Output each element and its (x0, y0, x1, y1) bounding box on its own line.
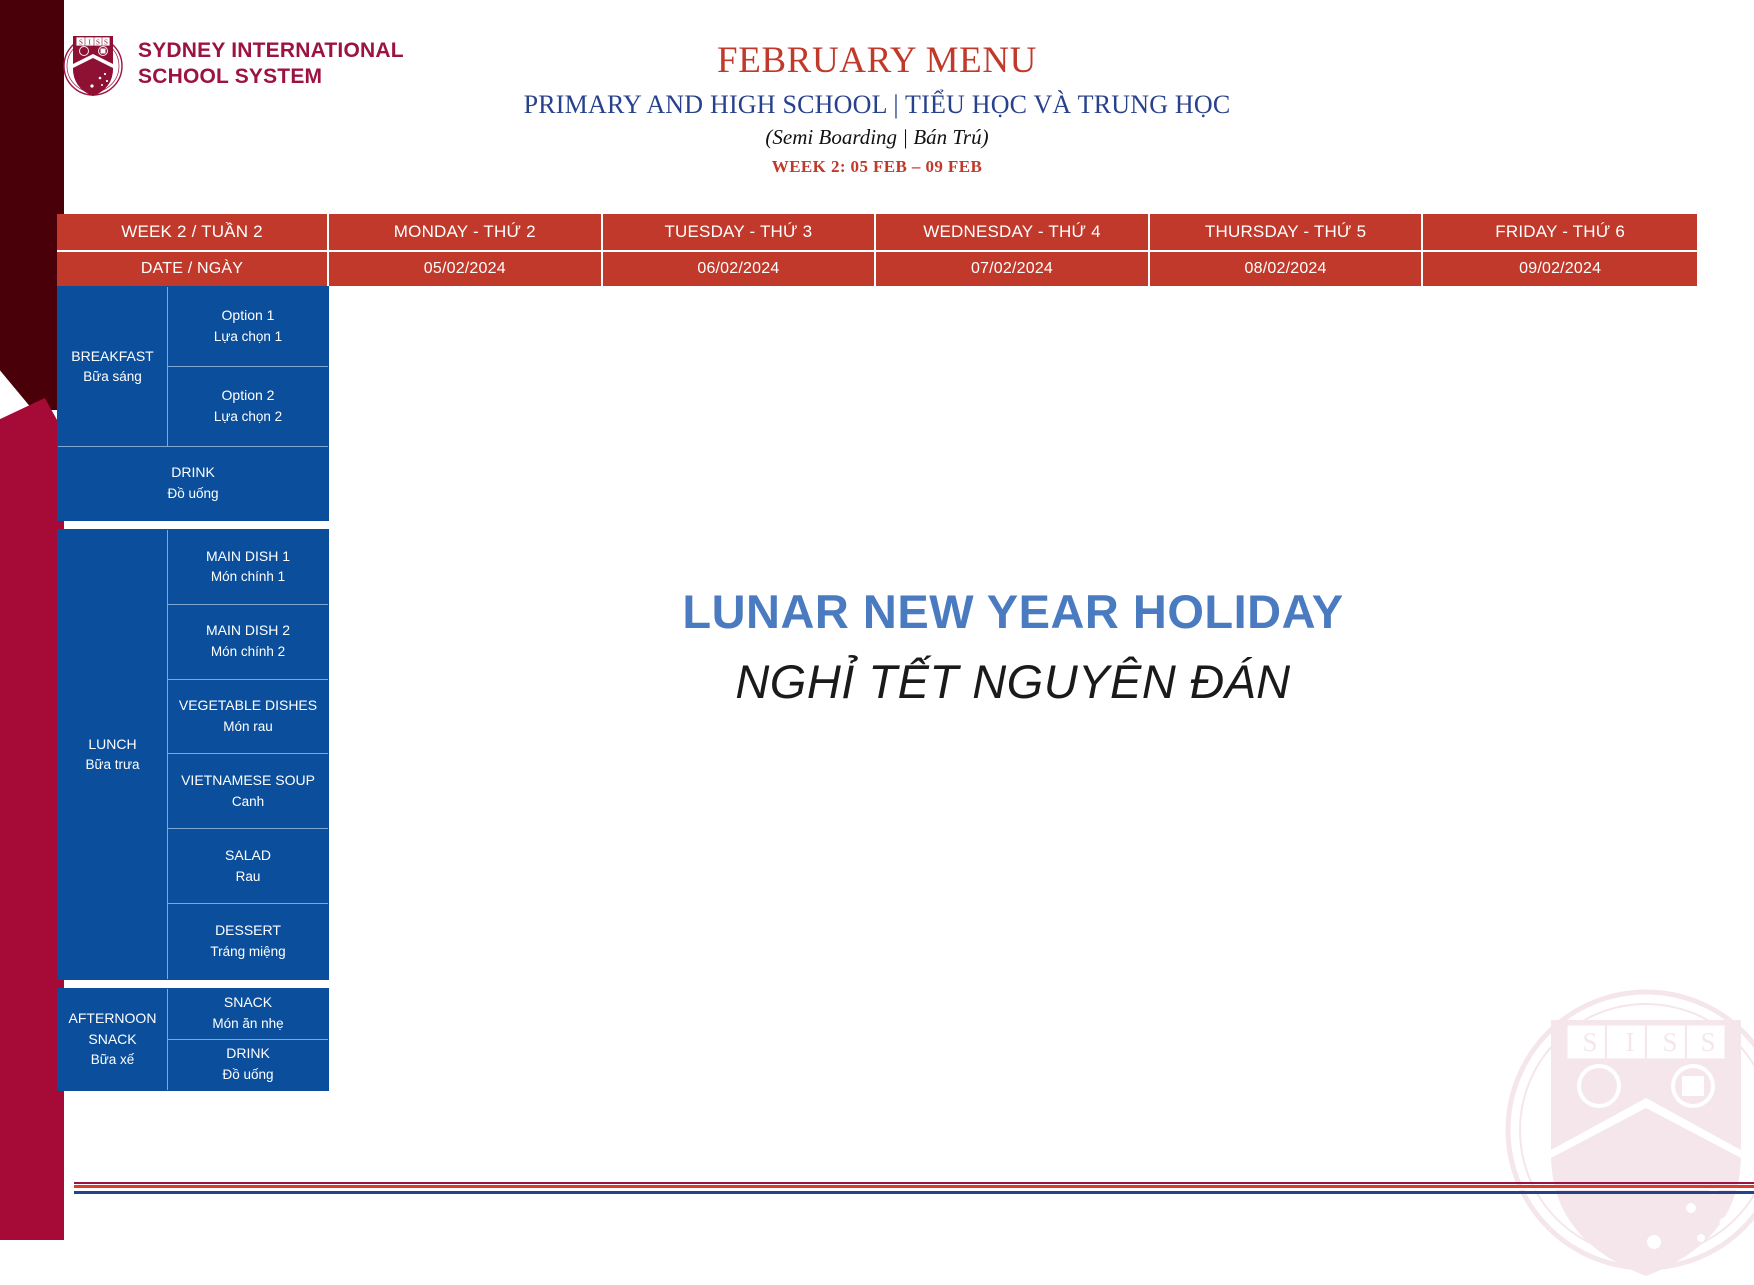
meal-item-vn: Rau (236, 867, 261, 888)
meal-name-breakfast: BREAKFAST Bữa sáng (58, 287, 168, 446)
meal-name-snack-en-1: AFTERNOON (69, 1008, 157, 1029)
meal-item-vn: Tráng miệng (210, 942, 285, 963)
meal-item-snack-drink: DRINK Đồ uống (168, 1040, 328, 1091)
header-day-friday: FRIDAY - THỨ 6 (1423, 214, 1697, 250)
table-header-row-dates: DATE / NGÀY 05/02/2024 06/02/2024 07/02/… (57, 250, 1697, 286)
meal-name-snack-vn: Bữa xế (91, 1050, 135, 1070)
meal-item-en: VIETNAMESE SOUP (181, 770, 315, 792)
meal-item-en: Option 2 (222, 385, 275, 407)
title-block: FEBRUARY MENU PRIMARY AND HIGH SCHOOL | … (340, 40, 1414, 176)
meal-items-afternoon-snack: SNACK Món ăn nhẹ DRINK Đồ uống (168, 989, 328, 1090)
header-date-thursday: 08/02/2024 (1150, 250, 1424, 286)
footer-divider (74, 1182, 1754, 1194)
footer-rule-blue (74, 1191, 1754, 1194)
meal-item-vn: Đồ uống (167, 484, 218, 505)
svg-text:S: S (79, 39, 83, 47)
header-day-monday: MONDAY - THỨ 2 (329, 214, 603, 250)
svg-text:S: S (1700, 1027, 1715, 1057)
table-body: BREAKFAST Bữa sáng Option 1 Lựa chọn 1 O… (57, 286, 1697, 1126)
svg-text:S: S (104, 39, 108, 47)
meal-name-lunch: LUNCH Bữa trưa (58, 530, 168, 979)
table-header-row-days: WEEK 2 / TUẦN 2 MONDAY - THỨ 2 TUESDAY -… (57, 214, 1697, 250)
holiday-notice: LUNAR NEW YEAR HOLIDAY NGHỈ TẾT NGUYÊN Đ… (329, 286, 1697, 1126)
meal-items-breakfast: Option 1 Lựa chọn 1 Option 2 Lựa chọn 2 (168, 287, 328, 446)
meal-name-snack-en-2: SNACK (88, 1029, 136, 1050)
meal-item-snack: SNACK Món ăn nhẹ (168, 989, 328, 1040)
meal-name-breakfast-vn: Bữa sáng (83, 367, 142, 387)
svg-text:S: S (96, 39, 100, 47)
header-date-monday: 05/02/2024 (329, 250, 603, 286)
left-edge-crimson-shape (0, 398, 64, 1240)
meal-item-en: MAIN DISH 2 (206, 620, 290, 642)
meal-name-afternoon-snack: AFTERNOON SNACK Bữa xế (58, 989, 168, 1090)
page-subtitle: PRIMARY AND HIGH SCHOOL | TIỂU HỌC VÀ TR… (340, 90, 1414, 120)
meal-item-vn: Món chính 1 (211, 567, 285, 588)
meal-item-lunch-vegetable-dishes: VEGETABLE DISHES Món rau (168, 680, 328, 755)
meal-item-vn: Lựa chọn 1 (214, 327, 282, 348)
header-week-label: WEEK 2 / TUẦN 2 (57, 214, 329, 250)
meal-item-vn: Canh (232, 792, 264, 813)
meal-name-breakfast-en: BREAKFAST (71, 346, 153, 367)
meal-item-en: DRINK (226, 1043, 270, 1065)
meal-item-en: SNACK (224, 992, 272, 1014)
footer-rule-maroon (74, 1182, 1754, 1184)
holiday-notice-vn: NGHỈ TẾT NGUYÊN ĐÁN (735, 656, 1290, 708)
meal-block-lunch: LUNCH Bữa trưa MAIN DISH 1 Món chính 1 M… (57, 529, 329, 980)
boarding-type: (Semi Boarding | Bán Trú) (340, 125, 1414, 149)
meal-item-breakfast-option-1: Option 1 Lựa chọn 1 (168, 287, 328, 367)
meal-item-en: DRINK (171, 462, 215, 484)
holiday-notice-en: LUNAR NEW YEAR HOLIDAY (682, 586, 1343, 638)
meal-name-lunch-en: LUNCH (88, 734, 136, 755)
header-day-tuesday: TUESDAY - THỨ 3 (603, 214, 877, 250)
meal-item-en: SALAD (225, 845, 271, 867)
meal-item-breakfast-option-2: Option 2 Lựa chọn 2 (168, 367, 328, 447)
header-date-wednesday: 07/02/2024 (876, 250, 1150, 286)
meal-block-breakfast: BREAKFAST Bữa sáng Option 1 Lựa chọn 1 O… (57, 286, 329, 521)
meal-name-lunch-vn: Bữa trưa (85, 755, 139, 775)
meal-item-vn: Món chính 2 (211, 642, 285, 663)
meal-item-en: Option 1 (222, 305, 275, 327)
header-date-tuesday: 06/02/2024 (603, 250, 877, 286)
page-title: FEBRUARY MENU (340, 40, 1414, 83)
meal-block-afternoon-snack: AFTERNOON SNACK Bữa xế SNACK Món ăn nhẹ … (57, 988, 329, 1091)
page-header: S I S S (0, 0, 1754, 192)
meal-item-vn: Món rau (223, 717, 273, 738)
meal-item-en: DESSERT (215, 920, 281, 942)
header-date-friday: 09/02/2024 (1423, 250, 1697, 286)
footer-rule-white (74, 1188, 1754, 1190)
school-crest-icon: S I S S (62, 28, 124, 100)
meal-item-lunch-vietnamese-soup: VIETNAMESE SOUP Canh (168, 754, 328, 829)
week-range: WEEK 2: 05 FEB – 09 FEB (340, 157, 1414, 177)
meal-item-lunch-dessert: DESSERT Tráng miệng (168, 904, 328, 979)
meal-label-column: BREAKFAST Bữa sáng Option 1 Lựa chọn 1 O… (57, 286, 329, 1099)
meal-item-en: MAIN DISH 1 (206, 546, 290, 568)
meal-item-breakfast-drink: DRINK Đồ uống (58, 446, 328, 520)
meal-item-lunch-main-dish-1: MAIN DISH 1 Món chính 1 (168, 530, 328, 605)
header-date-label: DATE / NGÀY (57, 250, 329, 286)
meal-item-lunch-main-dish-2: MAIN DISH 2 Món chính 2 (168, 605, 328, 680)
header-day-wednesday: WEDNESDAY - THỨ 4 (876, 214, 1150, 250)
meal-item-vn: Đồ uống (222, 1065, 273, 1086)
meal-item-vn: Lựa chọn 2 (214, 407, 282, 428)
meal-items-lunch: MAIN DISH 1 Món chính 1 MAIN DISH 2 Món … (168, 530, 328, 979)
menu-table: WEEK 2 / TUẦN 2 MONDAY - THỨ 2 TUESDAY -… (57, 214, 1697, 1126)
meal-item-lunch-salad: SALAD Rau (168, 829, 328, 904)
header-day-thursday: THURSDAY - THỨ 5 (1150, 214, 1424, 250)
meal-item-en: VEGETABLE DISHES (179, 695, 317, 717)
meal-item-vn: Món ăn nhẹ (212, 1014, 283, 1035)
